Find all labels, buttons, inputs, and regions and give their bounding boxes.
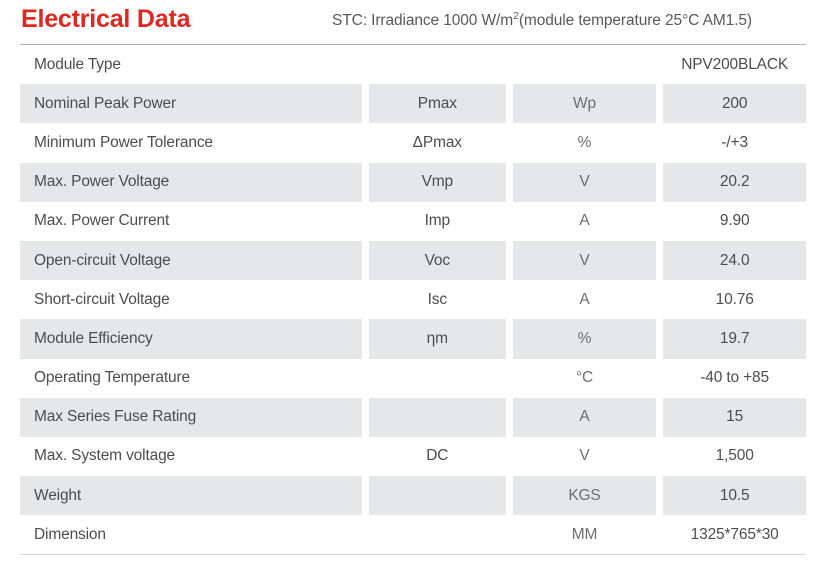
row-symbol — [369, 476, 506, 515]
row-unit: Wp — [513, 84, 657, 123]
table-row: Max Series Fuse RatingA15 — [20, 398, 806, 437]
electrical-data-sheet: Electrical Data STC: Irradiance 1000 W/m… — [0, 0, 826, 575]
row-symbol: Isc — [369, 280, 506, 319]
table-row: WeightKGS10.5 — [20, 476, 806, 515]
row-parameter-name: Nominal Peak Power — [20, 84, 362, 123]
row-unit: °C — [513, 359, 657, 398]
row-parameter-name: Open-circuit Voltage — [20, 241, 362, 280]
row-symbol — [369, 45, 506, 84]
electrical-data-table: Module TypeNPV200BLACKNominal Peak Power… — [20, 44, 806, 555]
row-value: -40 to +85 — [663, 359, 806, 398]
stc-condition-note: STC: Irradiance 1000 W/m2(module tempera… — [332, 12, 752, 30]
row-value: 20.2 — [663, 163, 806, 202]
row-value: 24.0 — [663, 241, 806, 280]
sheet-header: Electrical Data STC: Irradiance 1000 W/m… — [0, 0, 826, 44]
row-value: NPV200BLACK — [663, 45, 806, 84]
stc-note-prefix: STC: Irradiance 1000 W/m — [332, 12, 513, 29]
row-symbol: Voc — [369, 241, 506, 280]
row-parameter-name: Module Type — [20, 45, 362, 84]
row-unit: V — [513, 163, 657, 202]
page-title: Electrical Data — [21, 5, 190, 34]
table-row: Nominal Peak PowerPmaxWp200 — [20, 84, 806, 123]
row-unit: A — [513, 398, 657, 437]
row-symbol — [369, 359, 506, 398]
table-row: Module Efficiencyηm%19.7 — [20, 319, 806, 358]
row-symbol: Pmax — [369, 84, 506, 123]
row-parameter-name: Max. Power Current — [20, 202, 362, 241]
row-value: 200 — [663, 84, 806, 123]
row-parameter-name: Max Series Fuse Rating — [20, 398, 362, 437]
row-symbol: ηm — [369, 319, 506, 358]
row-symbol: Vmp — [369, 163, 506, 202]
row-parameter-name: Dimension — [20, 515, 362, 554]
row-value: 10.76 — [663, 280, 806, 319]
row-parameter-name: Max. Power Voltage — [20, 163, 362, 202]
row-value: 15 — [663, 398, 806, 437]
row-value: 9.90 — [663, 202, 806, 241]
row-symbol: Imp — [369, 202, 506, 241]
table-row: DimensionMM1325*765*30 — [20, 515, 806, 554]
row-parameter-name: Max. System voltage — [20, 437, 362, 476]
table-row: Module TypeNPV200BLACK — [20, 45, 806, 84]
row-value: 1,500 — [663, 437, 806, 476]
row-parameter-name: Operating Temperature — [20, 359, 362, 398]
row-parameter-name: Weight — [20, 476, 362, 515]
row-value: -/+3 — [663, 123, 806, 162]
row-value: 10.5 — [663, 476, 806, 515]
table-row: Operating Temperature°C-40 to +85 — [20, 359, 806, 398]
row-unit: KGS — [513, 476, 657, 515]
row-unit: A — [513, 280, 657, 319]
row-symbol: ΔPmax — [369, 123, 506, 162]
row-unit: V — [513, 241, 657, 280]
row-parameter-name: Short-circuit Voltage — [20, 280, 362, 319]
row-symbol: DC — [369, 437, 506, 476]
table-row: Open-circuit VoltageVocV24.0 — [20, 241, 806, 280]
row-unit: % — [513, 123, 657, 162]
row-unit — [513, 45, 657, 84]
row-unit: % — [513, 319, 657, 358]
row-value: 19.7 — [663, 319, 806, 358]
row-unit: A — [513, 202, 657, 241]
table-row: Max. Power CurrentImpA9.90 — [20, 202, 806, 241]
row-unit: V — [513, 437, 657, 476]
stc-note-suffix: (module temperature 25°C AM1.5) — [519, 12, 752, 29]
table-row: Short-circuit VoltageIscA10.76 — [20, 280, 806, 319]
table-row: Max. System voltageDCV1,500 — [20, 437, 806, 476]
row-parameter-name: Minimum Power Tolerance — [20, 123, 362, 162]
row-symbol — [369, 398, 506, 437]
table-row: Minimum Power ToleranceΔPmax%-/+3 — [20, 123, 806, 162]
row-value: 1325*765*30 — [663, 515, 806, 554]
row-unit: MM — [513, 515, 657, 554]
table-row: Max. Power VoltageVmpV20.2 — [20, 163, 806, 202]
row-symbol — [369, 515, 506, 554]
row-parameter-name: Module Efficiency — [20, 319, 362, 358]
